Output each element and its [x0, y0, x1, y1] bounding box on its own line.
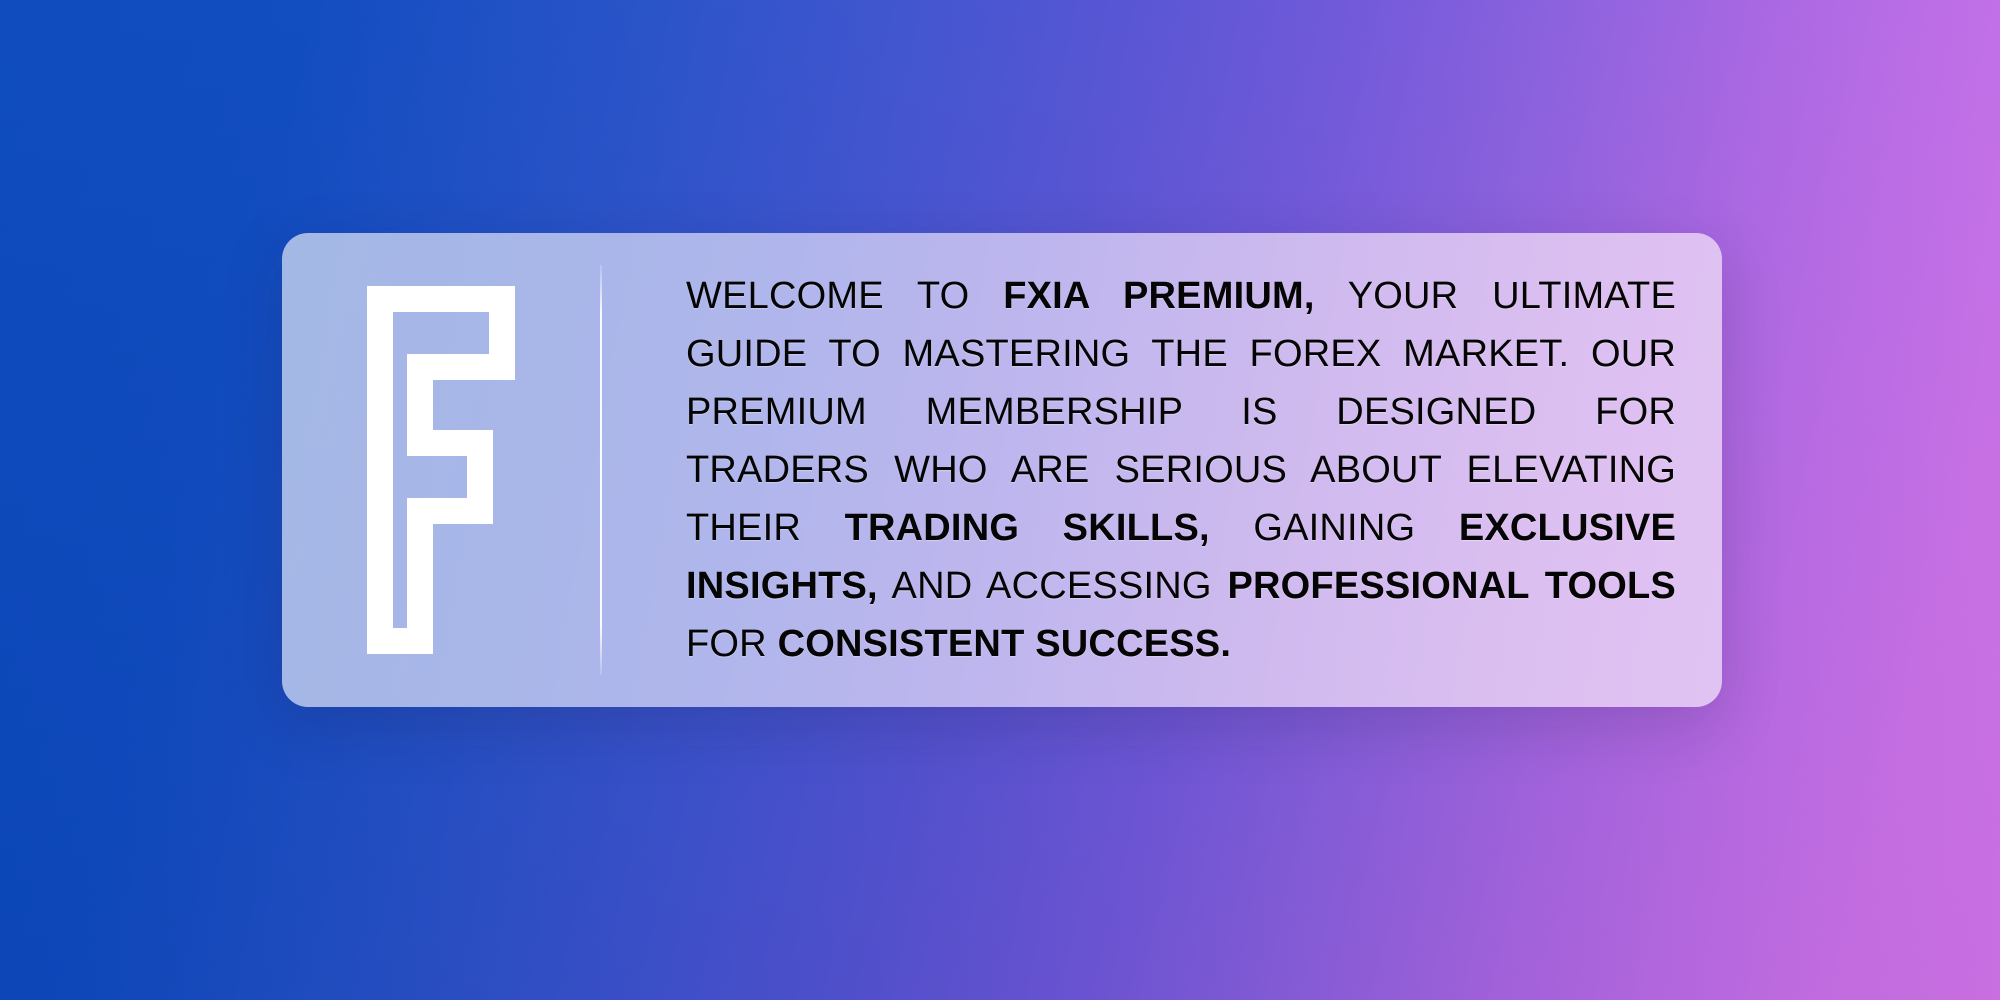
- intro-segment-3: TRADING SKILLS,: [845, 507, 1210, 549]
- intro-paragraph: WELCOME TO FXIA PREMIUM, YOUR ULTIMATE G…: [686, 267, 1676, 673]
- intro-segment-0: WELCOME TO: [686, 275, 1003, 317]
- intro-segment-8: FOR: [686, 623, 778, 665]
- brand-logo-f-icon: [361, 280, 521, 660]
- welcome-card: WELCOME TO FXIA PREMIUM, YOUR ULTIMATE G…: [282, 233, 1722, 707]
- intro-segment-4: GAINING: [1210, 507, 1459, 549]
- intro-segment-1: FXIA PREMIUM,: [1003, 275, 1314, 317]
- hero-background: WELCOME TO FXIA PREMIUM, YOUR ULTIMATE G…: [0, 0, 2000, 1000]
- intro-segment-7: PROFESSIONAL TOOLS: [1227, 565, 1676, 607]
- intro-segment-9: CONSISTENT SUCCESS.: [778, 623, 1232, 665]
- logo-column: [282, 233, 600, 707]
- intro-segment-6: AND ACCESSING: [878, 565, 1228, 607]
- intro-text-column: WELCOME TO FXIA PREMIUM, YOUR ULTIMATE G…: [602, 233, 1722, 707]
